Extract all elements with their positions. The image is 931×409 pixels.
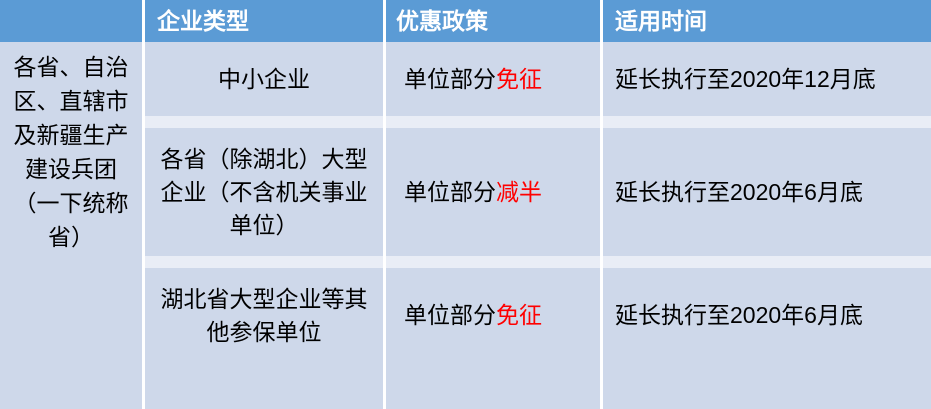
period-value: 延长执行至2020年6月底 — [603, 176, 931, 209]
policy-table: 企业类型 优惠政策 适用时间 各省、自治区、直辖市及新疆生产建设兵团（一下统称省… — [0, 0, 931, 409]
region-cell-label: 各省、自治区、直辖市及新疆生产建设兵团（一下统称省） — [9, 50, 133, 254]
region-cell: 各省、自治区、直辖市及新疆生产建设兵团（一下统称省） — [0, 42, 142, 409]
table-row: 单位部分免征 — [386, 268, 600, 409]
row-divider — [603, 116, 931, 128]
column-policy: 单位部分免征 单位部分减半 单位部分免征 — [386, 42, 600, 409]
policy-value: 单位部分免征 — [386, 63, 600, 96]
policy-prefix: 单位部分 — [404, 302, 496, 328]
enterprise-type-value: 湖北省大型企业等其他参保单位 — [145, 283, 383, 349]
table-row: 单位部分免征 — [386, 42, 600, 116]
period-value: 延长执行至2020年12月底 — [603, 63, 931, 96]
policy-value: 单位部分免征 — [386, 299, 600, 332]
table-body: 各省、自治区、直辖市及新疆生产建设兵团（一下统称省） 中小企业 各省（除湖北）大… — [0, 42, 931, 409]
policy-highlight: 免征 — [496, 66, 542, 92]
enterprise-type-value: 各省（除湖北）大型企业（不含机关事业单位） — [145, 143, 383, 242]
table-row: 延长执行至2020年6月底 — [603, 268, 931, 409]
row-divider — [386, 116, 600, 128]
header-cell-enterprise-type: 企业类型 — [145, 0, 383, 42]
header-cell-policy: 优惠政策 — [386, 0, 600, 42]
table-row: 湖北省大型企业等其他参保单位 — [145, 268, 383, 409]
row-divider — [145, 256, 383, 268]
row-divider — [603, 256, 931, 268]
table-header-row: 企业类型 优惠政策 适用时间 — [0, 0, 931, 42]
table-row: 中小企业 — [145, 42, 383, 116]
column-period: 延长执行至2020年12月底 延长执行至2020年6月底 延长执行至2020年6… — [603, 42, 931, 409]
table-row: 延长执行至2020年12月底 — [603, 42, 931, 116]
enterprise-type-value: 中小企业 — [145, 63, 383, 96]
period-value: 延长执行至2020年6月底 — [603, 299, 931, 332]
policy-highlight: 减半 — [496, 179, 542, 205]
row-divider — [386, 256, 600, 268]
policy-highlight: 免征 — [496, 302, 542, 328]
policy-prefix: 单位部分 — [404, 179, 496, 205]
table-row: 延长执行至2020年6月底 — [603, 128, 931, 256]
policy-value: 单位部分减半 — [386, 176, 600, 209]
column-enterprise-type: 中小企业 各省（除湖北）大型企业（不含机关事业单位） 湖北省大型企业等其他参保单… — [145, 42, 383, 409]
table-row: 各省（除湖北）大型企业（不含机关事业单位） — [145, 128, 383, 256]
header-cell-blank — [0, 0, 142, 42]
policy-prefix: 单位部分 — [404, 66, 496, 92]
row-divider — [145, 116, 383, 128]
header-cell-period: 适用时间 — [603, 0, 931, 42]
table-row: 单位部分减半 — [386, 128, 600, 256]
